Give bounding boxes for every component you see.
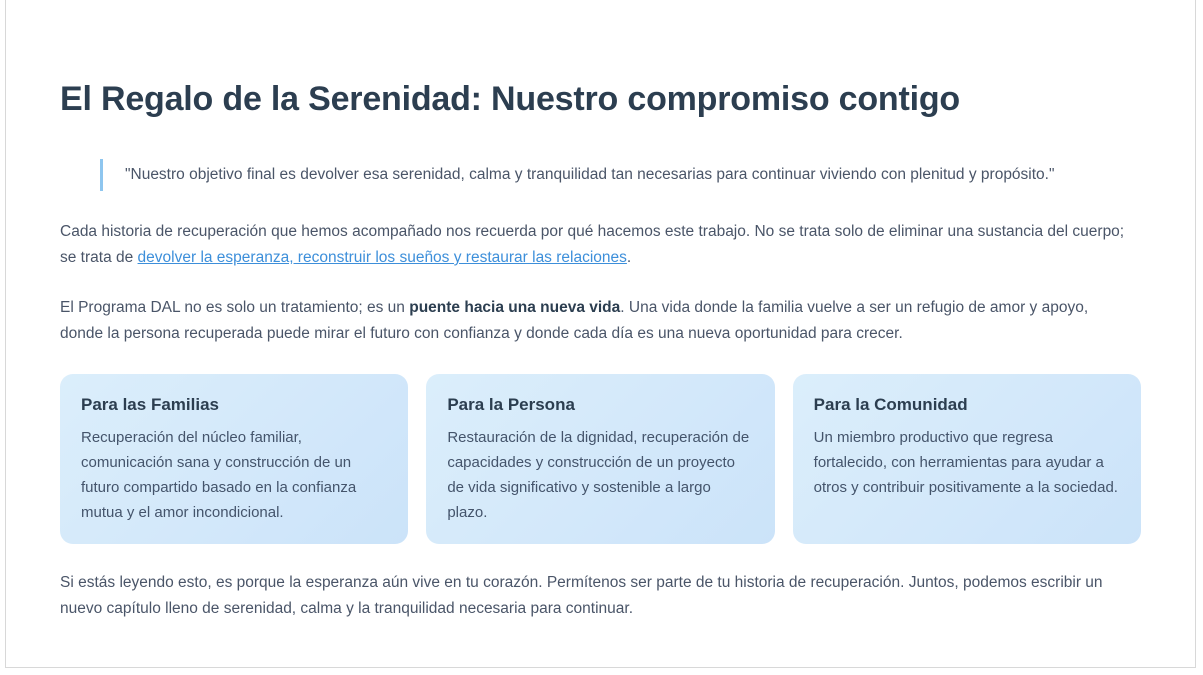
page-frame: El Regalo de la Serenidad: Nuestro compr… (5, 0, 1196, 668)
card-body-persona: Restauración de la dignidad, recuperació… (447, 425, 754, 525)
pull-quote-text: "Nuestro objetivo final es devolver esa … (125, 163, 1111, 187)
paragraph-intro: Cada historia de recuperación que hemos … (60, 219, 1132, 271)
card-body-comunidad: Un miembro productivo que regresa fortal… (814, 425, 1121, 500)
paragraph-program-lead: El Programa DAL no es solo un tratamient… (60, 299, 409, 316)
card-title-familias: Para las Familias (81, 394, 388, 416)
paragraph-closing: Si estás leyendo esto, es porque la espe… (60, 570, 1120, 622)
paragraph-intro-tail: . (627, 249, 631, 266)
page-title: El Regalo de la Serenidad: Nuestro compr… (60, 0, 1151, 120)
paragraph-program: El Programa DAL no es solo un tratamient… (60, 295, 1132, 347)
card-para-las-familias[interactable]: Para las Familias Recuperación del núcle… (60, 374, 408, 544)
card-body-familias: Recuperación del núcleo familiar, comuni… (81, 425, 388, 525)
card-para-la-persona[interactable]: Para la Persona Restauración de la digni… (426, 374, 774, 544)
card-title-persona: Para la Persona (447, 394, 754, 416)
card-title-comunidad: Para la Comunidad (814, 394, 1121, 416)
benefit-card-row: Para las Familias Recuperación del núcle… (60, 374, 1141, 544)
card-para-la-comunidad[interactable]: Para la Comunidad Un miembro productivo … (793, 374, 1141, 544)
pull-quote: "Nuestro objetivo final es devolver esa … (100, 159, 1111, 191)
bridge-emphasis: puente hacia una nueva vida (409, 299, 620, 316)
hope-link[interactable]: devolver la esperanza, reconstruir los s… (138, 249, 627, 266)
article-content: El Regalo de la Serenidad: Nuestro compr… (60, 0, 1151, 638)
